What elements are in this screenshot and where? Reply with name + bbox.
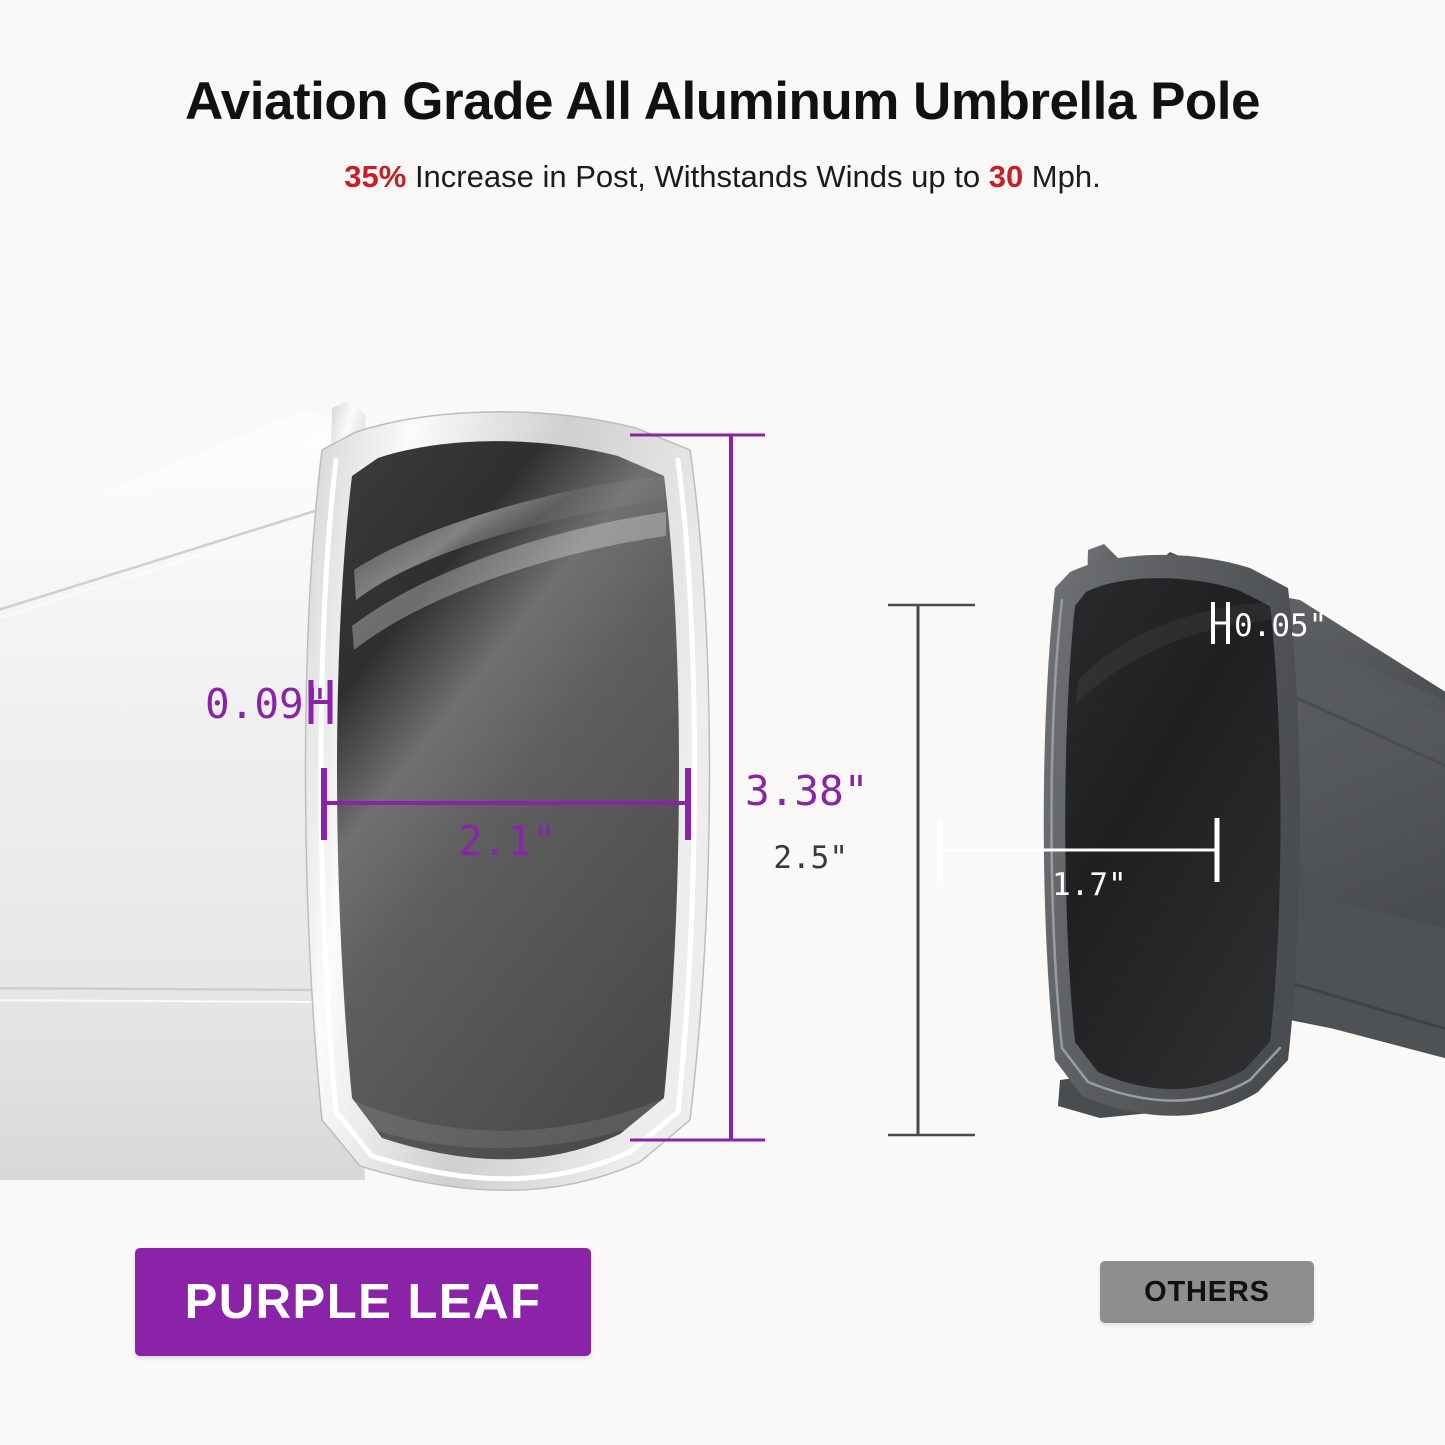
left-height-label: 3.38" (745, 767, 868, 815)
right-height-label: 2.5" (773, 840, 848, 876)
subtitle-trailing-text: Mph. (1023, 159, 1101, 194)
header: Aviation Grade All Aluminum Umbrella Pol… (0, 0, 1445, 195)
page-subtitle: 35% Increase in Post, Withstands Winds u… (0, 159, 1445, 195)
right-thickness-label: 0.05" (1234, 608, 1327, 644)
page-title: Aviation Grade All Aluminum Umbrella Pol… (0, 72, 1445, 133)
infographic-canvas: Aviation Grade All Aluminum Umbrella Pol… (0, 0, 1445, 1445)
left-width-label: 2.1" (458, 817, 557, 865)
stat-percent-increase: 35% (344, 159, 406, 194)
stat-wind-speed: 30 (989, 159, 1023, 194)
brand-badge-label: PURPLE LEAF (185, 1274, 542, 1330)
product-illustration: 3.38" 2.1" 0.09" (0, 300, 1445, 1200)
subtitle-middle-text: Increase in Post, Withstands Winds up to (406, 159, 988, 194)
others-badge-label: OTHERS (1144, 1276, 1270, 1309)
right-width-label: 1.7" (1052, 867, 1127, 903)
left-product-pole (0, 400, 710, 1190)
right-pole-bore (1065, 578, 1280, 1089)
left-pole-bore (337, 441, 679, 1159)
brand-badge-purple-leaf: PURPLE LEAF (135, 1248, 591, 1356)
product-comparison-scene: 3.38" 2.1" 0.09" (0, 300, 1445, 1200)
brand-badge-others: OTHERS (1100, 1261, 1314, 1323)
